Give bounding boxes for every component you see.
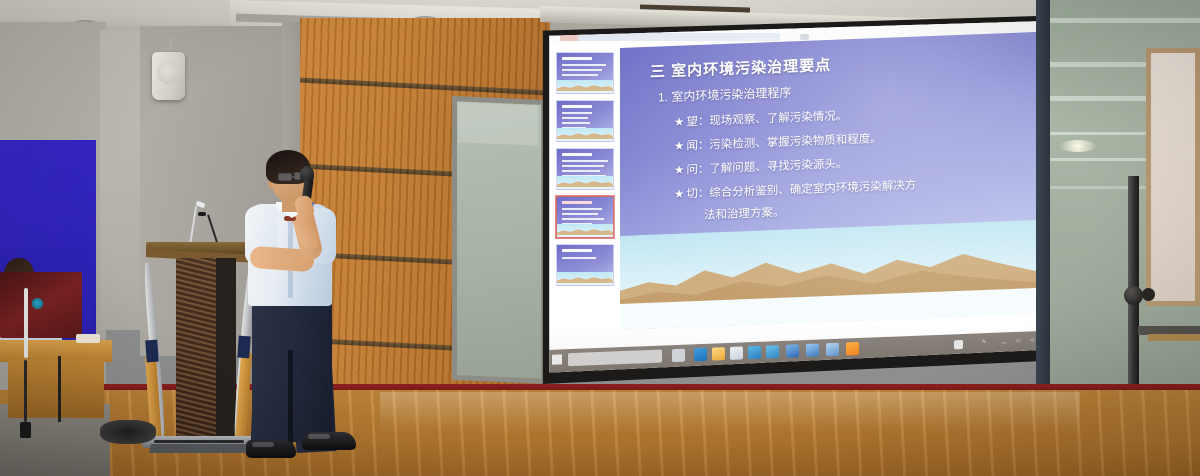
slide-title: 三 室内环境污染治理要点: [650, 54, 831, 82]
lectern-mic-head-2: [198, 212, 206, 216]
star-icon: ★: [674, 165, 684, 177]
presenter-trouser-seam: [288, 350, 293, 446]
slide-bullet: ★问：了解问题、寻找污染源头。: [674, 155, 847, 178]
projection-screen: 三 室内环境污染治理要点 1. 室内环境污染治理程序 ★望：现场观察、了解污染情…: [546, 18, 1098, 374]
ceiling-light-reflection: [1060, 140, 1096, 152]
whiteboard-tray-wood: [1148, 334, 1200, 341]
laptop-logo-icon: [32, 298, 43, 309]
powerpoint-toolbar-button[interactable]: [800, 34, 809, 40]
cable: [58, 356, 61, 422]
slide-bullet: ★望：现场观察、了解污染情况。: [674, 107, 847, 130]
floor-cable-coil: [100, 420, 156, 444]
browser-icon[interactable]: [766, 345, 779, 358]
edge-icon[interactable]: [694, 348, 707, 361]
speaker-grill-icon: [157, 62, 179, 84]
explorer-icon[interactable]: [712, 347, 725, 360]
word-icon[interactable]: [786, 344, 799, 357]
list-item[interactable]: [556, 148, 614, 190]
slide-bullet: ★闻：污染检测、掌握污染物质和程度。: [674, 130, 882, 154]
cable: [24, 360, 27, 422]
whiteboard-adjust-knob[interactable]: [1124, 286, 1143, 305]
lectern-shadow-panel: [214, 258, 236, 438]
show-hidden-icon[interactable]: [954, 340, 963, 349]
floor-cable: [154, 440, 244, 443]
lectern-leg-band: [237, 336, 251, 359]
pen-icon[interactable]: ✎: [982, 339, 986, 345]
bullet-label: 切: [686, 188, 698, 200]
list-item[interactable]: [556, 244, 614, 286]
bullet-text: ：了解问题、寻找污染源头。: [698, 158, 848, 176]
presenter-shoe-left: [246, 440, 296, 458]
presenter-remote[interactable]: [76, 334, 100, 343]
desk-top: [0, 340, 112, 362]
slide-bullet: ★切：综合分析鉴别、确定室内环境污染解决方: [674, 177, 916, 202]
list-item[interactable]: [556, 52, 614, 94]
powerpoint-window: 三 室内环境污染治理要点 1. 室内环境污染治理程序 ★望：现场观察、了解污染情…: [546, 18, 1098, 374]
star-icon: ★: [674, 189, 684, 201]
desk-microphone-stand: [24, 288, 28, 358]
cable-connector: [20, 422, 31, 438]
chevron-up-icon[interactable]: ︿: [1002, 338, 1007, 345]
lecture-hall-scene: 三 室内环境污染治理要点 1. 室内环境污染治理程序 ★望：现场观察、了解污染情…: [0, 0, 1200, 476]
bullet-text: ：综合分析鉴别、确定室内环境污染解决方: [698, 180, 917, 200]
slide-bullet-cont: 法和治理方案。: [704, 204, 785, 223]
presenter-shoe-right: [302, 432, 356, 450]
glass-board-highlight: [458, 102, 538, 145]
media-icon[interactable]: [826, 343, 839, 356]
list-item[interactable]: [556, 100, 614, 142]
glass-mullion: [1036, 0, 1050, 440]
search-input[interactable]: [568, 350, 662, 367]
mail-icon[interactable]: [748, 346, 761, 359]
glasses-bridge: [291, 176, 295, 178]
floor-reflection: [380, 392, 1080, 432]
whiteboard: [1146, 48, 1200, 306]
star-icon: ★: [674, 117, 684, 129]
start-button-icon[interactable]: [552, 354, 562, 364]
bullet-label: 闻: [686, 140, 698, 152]
active-app-icon[interactable]: [846, 342, 859, 355]
star-icon: ★: [674, 141, 684, 153]
whiteboard-clamp-icon[interactable]: [1142, 288, 1155, 301]
list-item[interactable]: [556, 196, 614, 238]
lectern-leg-band: [145, 340, 159, 363]
bullet-text: ：现场观察、了解污染情况。: [698, 110, 848, 128]
bullet-text: ：污染检测、掌握污染物质和程度。: [698, 133, 882, 152]
store-icon[interactable]: [730, 346, 743, 359]
bullet-label: 望: [686, 116, 698, 128]
desk-body: [8, 360, 104, 418]
slide-subtitle: 1. 室内环境污染治理程序: [658, 83, 791, 105]
glasses-icon: [278, 173, 292, 181]
task-view-icon[interactable]: [672, 349, 685, 362]
active-slide[interactable]: 三 室内环境污染治理要点 1. 室内环境污染治理程序 ★望：现场观察、了解污染情…: [620, 30, 1090, 330]
lectern-base-plate: [149, 444, 253, 453]
slide-thumbnail-rail[interactable]: [552, 48, 614, 348]
volume-icon[interactable]: ◁: [1030, 337, 1034, 343]
powerpoint-icon[interactable]: [806, 344, 819, 357]
lectern-front-panel: [176, 258, 216, 440]
bullet-label: 问: [686, 164, 698, 176]
network-icon[interactable]: ▭: [1016, 338, 1021, 344]
